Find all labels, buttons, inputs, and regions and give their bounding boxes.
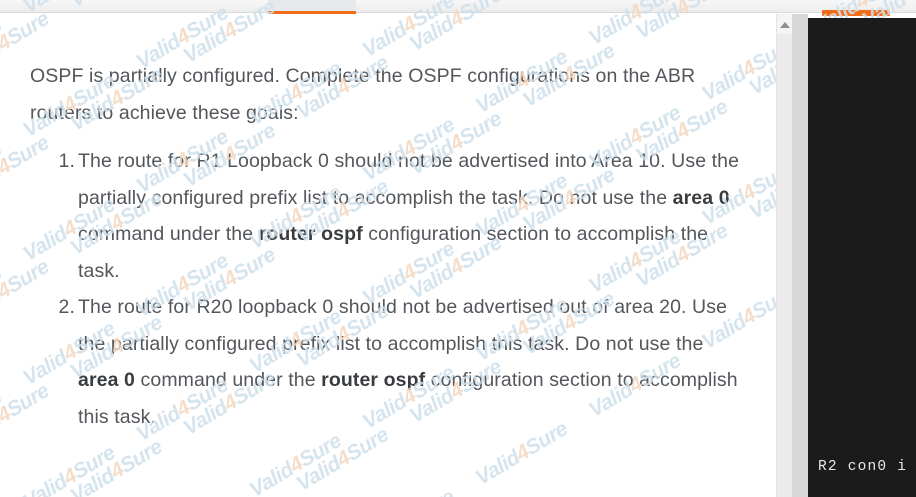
top-tab-strip-background [0,0,916,12]
goal-2-text-part-2: command under the [135,369,321,391]
goal-1-text-part-1: The route for R1 Loopback 0 should not b… [78,150,739,209]
document-pane: OSPF is partially configured. Complete t… [0,14,776,497]
instructions-body: OSPF is partially configured. Complete t… [30,58,744,435]
goal-1-command-router-ospf: router ospf [259,223,363,245]
list-item: The route for R1 Loopback 0 should not b… [30,143,744,289]
intro-paragraph: OSPF is partially configured. Complete t… [30,58,744,131]
scroll-up-arrow-icon[interactable] [777,18,792,32]
app-window: OSPF is partially configured. Complete t… [0,0,916,497]
terminal-prompt-line: R2 con0 i [818,459,907,475]
top-tab-strip [0,0,916,13]
scrollbar-track[interactable] [777,34,792,497]
goals-list: The route for R1 Loopback 0 should not b… [30,143,744,435]
pane-divider [792,14,808,497]
document-scrollbar[interactable] [776,14,792,497]
goal-1-text-part-2: command under the [78,223,259,245]
goal-2-command-router-ospf: router ospf [321,369,425,391]
list-item: The route for R20 loopback 0 should not … [30,289,744,435]
goal-2-command-area0: area 0 [78,369,135,391]
tab-secondary-underline[interactable] [822,10,890,16]
terminal-panel[interactable]: R2 con0 i [808,18,916,497]
goal-2-text-part-1: The route for R20 loopback 0 should not … [78,296,727,355]
goal-1-command-area0: area 0 [673,187,730,209]
